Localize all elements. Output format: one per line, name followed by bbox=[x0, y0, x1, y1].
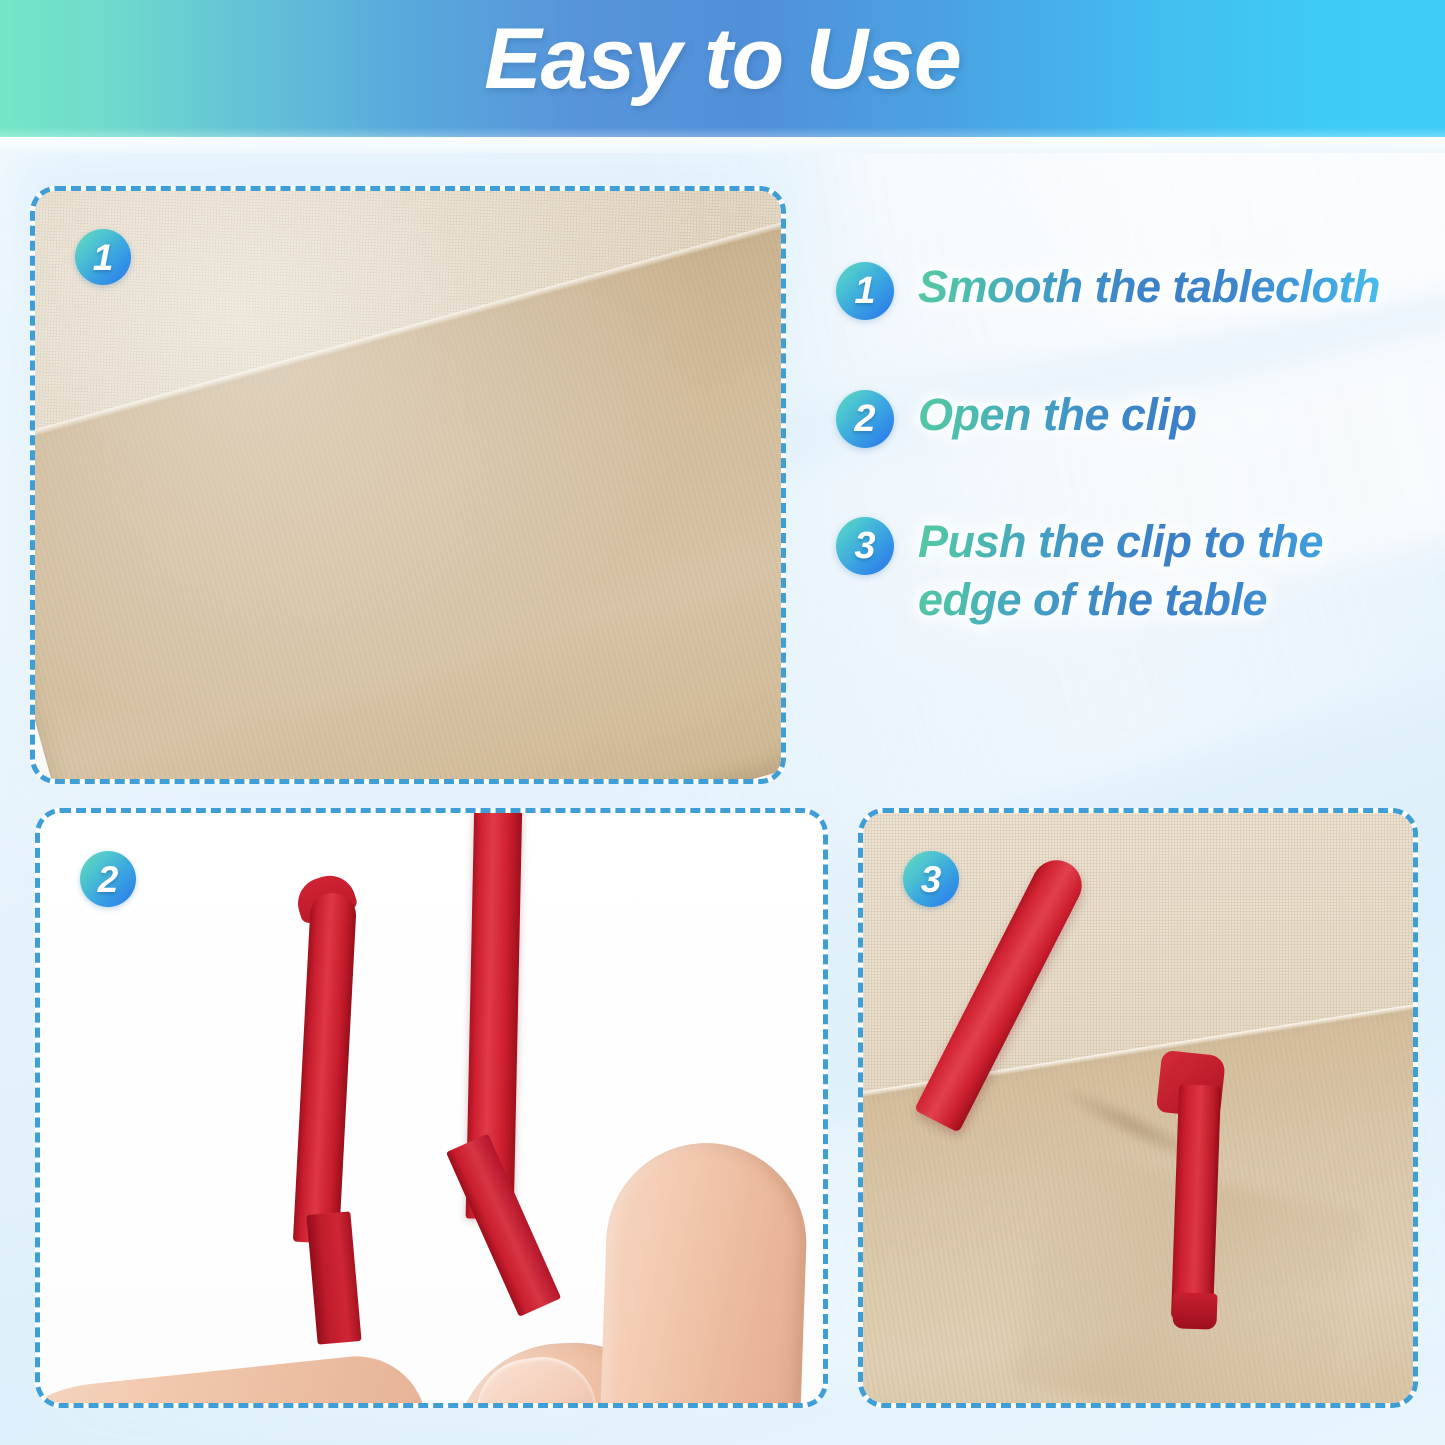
header-shade bbox=[0, 127, 1445, 137]
panel-number-badge-1: 1 bbox=[75, 229, 131, 285]
step-number-badge-1: 1 bbox=[836, 262, 894, 320]
instruction-list: 1 Smooth the tablecloth 2 Open the clip … bbox=[836, 258, 1436, 698]
step-1-line-1: Smooth the tablecloth bbox=[918, 261, 1380, 312]
clip-lower-arm bbox=[1171, 1084, 1221, 1320]
panel-1-photo bbox=[35, 191, 781, 779]
step-3-line-1: Push the clip to the bbox=[918, 516, 1323, 567]
panel-step-2: 2 bbox=[35, 808, 828, 1408]
fabric-sheen bbox=[35, 191, 781, 779]
step-label-1: Smooth the tablecloth bbox=[918, 258, 1436, 316]
infographic-canvas: Easy to Use 1 bbox=[0, 0, 1445, 1445]
step-number-badge-2: 2 bbox=[836, 390, 894, 448]
step-label-2: Open the clip bbox=[918, 386, 1436, 444]
instruction-step-1: 1 Smooth the tablecloth bbox=[836, 258, 1436, 316]
step-3-line-2: edge of the table bbox=[918, 571, 1436, 629]
instruction-step-3: 3 Push the clip to the edge of the table bbox=[836, 513, 1436, 628]
header-underband bbox=[0, 137, 1445, 153]
clip-foot bbox=[1172, 1292, 1217, 1330]
panel-2-photo bbox=[40, 813, 823, 1403]
panel-number-badge-2: 2 bbox=[80, 851, 136, 907]
panel-step-1: 1 bbox=[30, 186, 786, 784]
page-title: Easy to Use bbox=[0, 10, 1445, 109]
step-2-line-1: Open the clip bbox=[918, 389, 1197, 440]
panel-number-badge-3: 3 bbox=[903, 851, 959, 907]
instruction-step-2: 2 Open the clip bbox=[836, 386, 1436, 444]
step-label-3: Push the clip to the edge of the table bbox=[918, 513, 1436, 628]
step-number-badge-3: 3 bbox=[836, 517, 894, 575]
header-banner: Easy to Use bbox=[0, 0, 1445, 137]
panel-step-3: 3 bbox=[858, 808, 1418, 1408]
